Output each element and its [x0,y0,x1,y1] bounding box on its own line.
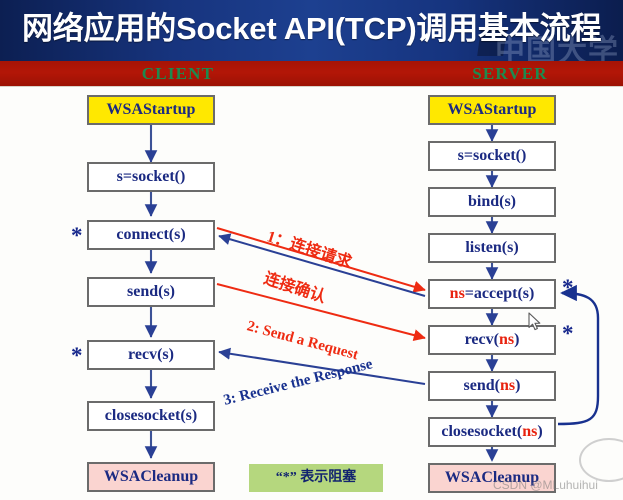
server-step-wsastartup[interactable]: WSAStartup [428,95,556,125]
client-step-wsacleanup[interactable]: WSACleanup [87,462,215,492]
client-step-send[interactable]: send(s) [87,277,215,307]
recv-prefix: recv( [465,331,499,348]
client-step-connect[interactable]: connect(s) [87,220,215,250]
annotation-receive-response: 3: Receive the Response [222,356,374,409]
send-ns-token: ns [500,377,515,394]
blocking-marker-client-connect: * [71,224,83,247]
blocking-marker-client-recv: * [71,344,83,367]
page-title: 网络应用的Socket API(TCP)调用基本流程 [22,2,622,56]
server-step-closesocket[interactable]: closesocket(ns) [428,417,556,447]
client-step-socket[interactable]: s=socket() [87,162,215,192]
title-bar: 中国大学 网络应用的Socket API(TCP)调用基本流程 [0,0,623,61]
recv-ns-token: ns [499,331,514,348]
server-step-bind[interactable]: bind(s) [428,187,556,217]
recv-tail: ) [514,331,519,348]
legend-blocking-note: “*” 表示阻塞 [249,464,383,492]
server-step-accept[interactable]: ns=accept(s) [428,279,556,309]
server-step-send[interactable]: send(ns) [428,371,556,401]
annotation-send-request: 2: Send a Request [245,318,360,364]
client-column-header: CLIENT [108,62,248,86]
blocking-marker-server-recv: * [562,322,574,345]
accept-ns-token: ns [450,285,465,302]
annotation-connect-request: 1：连接请求 [264,223,355,273]
server-column-header: SERVER [440,62,580,86]
server-accept-loop-arrow [558,293,598,424]
annotation-connect-ack: 连接确认 [261,265,329,308]
corner-arc-decoration [579,438,623,482]
role-bar: CLIENT SERVER [0,61,623,87]
client-step-closesocket[interactable]: closesocket(s) [87,401,215,431]
server-step-wsacleanup[interactable]: WSACleanup [428,463,556,493]
blocking-marker-server-accept: * [562,276,574,299]
server-step-recv[interactable]: recv(ns) [428,325,556,355]
close-ns-token: ns [522,423,537,440]
client-step-wsastartup[interactable]: WSAStartup [87,95,215,125]
close-prefix: closesocket( [441,423,522,440]
server-step-socket[interactable]: s=socket() [428,141,556,171]
send-tail: ) [515,377,520,394]
server-step-listen[interactable]: listen(s) [428,233,556,263]
client-step-recv[interactable]: recv(s) [87,340,215,370]
accept-rest: =accept(s) [465,285,535,302]
close-tail: ) [537,423,542,440]
slide-canvas: 中国大学 网络应用的Socket API(TCP)调用基本流程 CLIENT S… [0,0,623,500]
send-prefix: send( [464,377,500,394]
